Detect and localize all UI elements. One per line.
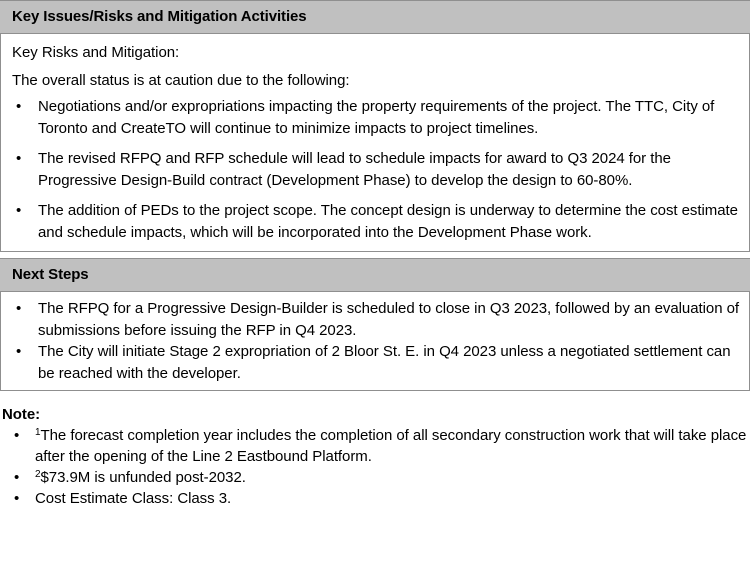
next-steps-bullet-list: The RFPQ for a Progressive Design-Builde… xyxy=(12,298,741,384)
list-item: Cost Estimate Class: Class 3. xyxy=(2,488,750,509)
document-page: Key Issues/Risks and Mitigation Activiti… xyxy=(0,0,750,579)
list-item: The revised RFPQ and RFP schedule will l… xyxy=(12,148,741,191)
section-next-steps: Next Steps The RFPQ for a Progressive De… xyxy=(0,258,750,391)
paragraph-overall-status: The overall status is at caution due to … xyxy=(12,68,741,94)
list-item: The addition of PEDs to the project scop… xyxy=(12,200,741,243)
note-text: $73.9M is unfunded post-2032. xyxy=(41,469,246,486)
section-title: Key Issues/Risks and Mitigation Activiti… xyxy=(12,8,750,26)
note-text: Cost Estimate Class: Class 3. xyxy=(35,490,231,507)
note-list: 1The forecast completion year includes t… xyxy=(2,425,750,509)
note-title: Note: xyxy=(2,405,750,424)
section-key-issues-risks: Key Issues/Risks and Mitigation Activiti… xyxy=(0,0,750,252)
list-item: 2$73.9M is unfunded post-2032. xyxy=(2,467,750,488)
list-item: The City will initiate Stage 2 expropria… xyxy=(12,341,741,384)
list-item: 1The forecast completion year includes t… xyxy=(2,425,750,467)
list-item: Negotiations and/or expropriations impac… xyxy=(12,96,741,139)
section-header-key-issues-risks: Key Issues/Risks and Mitigation Activiti… xyxy=(0,0,750,34)
section-body-next-steps: The RFPQ for a Progressive Design-Builde… xyxy=(1,292,749,390)
note-block: Note: 1The forecast completion year incl… xyxy=(0,405,750,509)
section-body-key-issues-risks: Key Risks and Mitigation: The overall st… xyxy=(1,34,749,251)
section-header-next-steps: Next Steps xyxy=(0,258,750,292)
note-text: The forecast completion year includes th… xyxy=(35,427,746,465)
section-title: Next Steps xyxy=(12,266,750,284)
list-item: The RFPQ for a Progressive Design-Builde… xyxy=(12,298,741,341)
risk-bullet-list: Negotiations and/or expropriations impac… xyxy=(12,96,741,243)
paragraph-key-risks-heading: Key Risks and Mitigation: xyxy=(12,40,741,66)
